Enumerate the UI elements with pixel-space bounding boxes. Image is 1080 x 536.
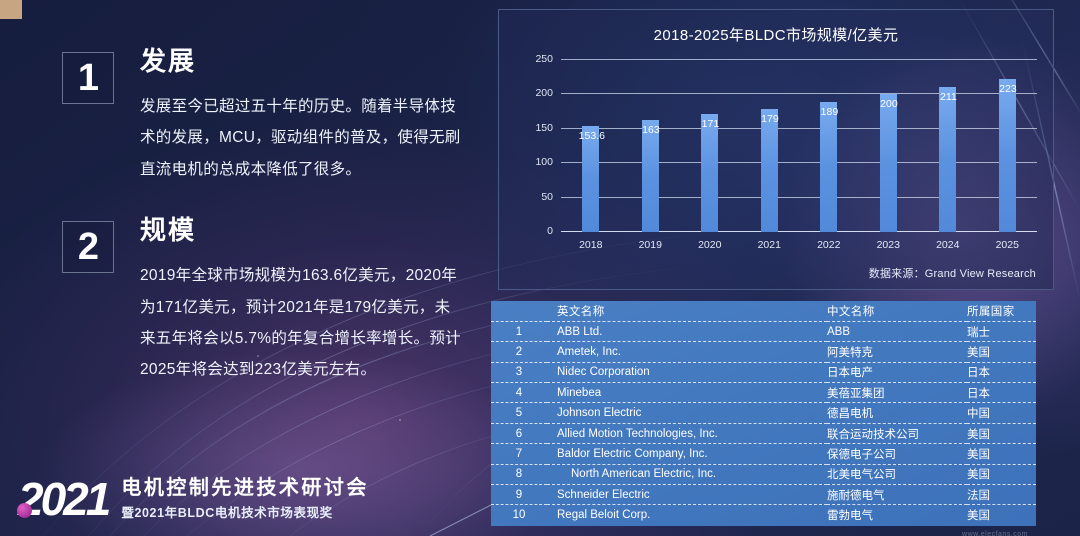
table-cell-english: North American Electric, Inc.: [547, 464, 827, 484]
table-cell-country: 美国: [967, 444, 1036, 464]
table-cell-chinese: 美蓓亚集团: [827, 383, 967, 403]
chart-bar-slot: 1792021: [740, 60, 800, 232]
logo-year-wrap: 2021: [18, 476, 114, 522]
chart-bar: [820, 102, 837, 232]
section-number: 1: [78, 59, 98, 97]
table-header-english: 英文名称: [547, 301, 827, 321]
chart-x-tick-label: 2019: [639, 239, 662, 251]
section-body: 规模 2019年全球市场规模为163.6亿美元，2020年为171亿美元，预计2…: [140, 215, 462, 385]
table-cell-english: Allied Motion Technologies, Inc.: [547, 423, 827, 443]
chart-bar: [761, 109, 778, 232]
chart-plot-area: 050100150200250 153.62018163201917120201…: [561, 60, 1037, 232]
table-cell-index: 2: [491, 342, 547, 362]
logo-text-block: 电机控制先进技术研讨会 暨2021年BLDC电机技术市场表现奖: [121, 477, 369, 521]
chart-y-tick-label: 200: [535, 87, 553, 99]
chart-source-note: 数据来源：Grand View Research: [869, 265, 1036, 281]
chart-bar-slot: 2002023: [859, 60, 919, 232]
table-cell-english: Minebea: [547, 383, 827, 403]
table-cell-index: 1: [491, 321, 547, 341]
chart-bar: [642, 120, 659, 232]
chart-x-tick-label: 2024: [936, 239, 959, 251]
table-row: 5Johnson Electric德昌电机中国: [491, 403, 1036, 423]
chart-title: 2018-2025年BLDC市场规模/亿美元: [499, 10, 1053, 45]
table-header-index: [491, 301, 547, 321]
logo-sub-title: 暨2021年BLDC电机技术市场表现奖: [121, 502, 369, 521]
chart-plot-wrapper: 050100150200250 153.62018163201917120201…: [499, 50, 1055, 260]
table-body: 1ABB Ltd.ABB瑞士2Ametek, Inc.阿美特克美国3Nidec …: [491, 321, 1036, 525]
table-cell-country: 美国: [967, 505, 1036, 525]
chart-bar-slot: 2232025: [978, 60, 1038, 232]
chart-bar-value-label: 163: [642, 124, 660, 136]
chart-bar-slot: 1632019: [621, 60, 681, 232]
table-cell-chinese: 施耐德电气: [827, 485, 967, 505]
table-cell-english: Ametek, Inc.: [547, 342, 827, 362]
chart-bar: [999, 79, 1016, 232]
section-number-badge: 2: [62, 221, 114, 273]
table-cell-country: 美国: [967, 342, 1036, 362]
chart-bar: [939, 87, 956, 232]
table-cell-chinese: 雷勃电气: [827, 505, 967, 525]
table-row: 2Ametek, Inc.阿美特克美国: [491, 342, 1036, 362]
chart-bar-value-label: 200: [880, 98, 898, 110]
table-head: 英文名称 中文名称 所属国家: [491, 301, 1036, 321]
table-row: 6Allied Motion Technologies, Inc.联合运动技术公…: [491, 423, 1036, 443]
section-paragraph: 发展至今已超过五十年的历史。随着半导体技术的发展，MCU，驱动组件的普及，使得无…: [140, 91, 462, 185]
table-cell-index: 9: [491, 485, 547, 505]
chart-y-tick-label: 0: [547, 225, 553, 237]
slide-root: 1 发展 发展至今已超过五十年的历史。随着半导体技术的发展，MCU，驱动组件的普…: [0, 0, 1080, 536]
section-development: 1 发展 发展至今已超过五十年的历史。随着半导体技术的发展，MCU，驱动组件的普…: [62, 46, 462, 185]
table-header-row: 英文名称 中文名称 所属国家: [491, 301, 1036, 321]
table-cell-chinese: 阿美特克: [827, 342, 967, 362]
chart-bar-value-label: 211: [940, 91, 957, 103]
section-scale: 2 规模 2019年全球市场规模为163.6亿美元，2020年为171亿美元，预…: [62, 215, 462, 385]
section-number: 2: [78, 228, 98, 266]
table-cell-index: 4: [491, 383, 547, 403]
section-title: 发展: [140, 46, 462, 77]
table-cell-country: 瑞士: [967, 321, 1036, 341]
table-cell-english: Baldor Electric Company, Inc.: [547, 444, 827, 464]
chart-bar-value-label: 171: [702, 118, 720, 130]
table-cell-index: 3: [491, 362, 547, 382]
table-cell-country: 法国: [967, 485, 1036, 505]
chart-x-tick-label: 2021: [758, 239, 781, 251]
table-cell-chinese: 日本电产: [827, 362, 967, 382]
table-row: 3Nidec Corporation日本电产日本: [491, 362, 1036, 382]
chart-bar-value-label: 189: [821, 106, 839, 118]
chart-bars: 153.620181632019171202017920211892022200…: [561, 60, 1037, 232]
table-cell-english: Regal Beloit Corp.: [547, 505, 827, 525]
section-paragraph: 2019年全球市场规模为163.6亿美元，2020年为171亿美元，预计2021…: [140, 260, 462, 385]
table-header-country: 所属国家: [967, 301, 1036, 321]
chart-x-tick-label: 2020: [698, 239, 721, 251]
logo-year-text: 2021: [18, 473, 108, 525]
chart-bar-slot: 1712020: [680, 60, 740, 232]
chart-bar-value-label: 223: [999, 83, 1017, 95]
table-cell-chinese: 德昌电机: [827, 403, 967, 423]
chart-panel: 2018-2025年BLDC市场规模/亿美元 050100150200250 1…: [498, 9, 1054, 290]
corner-artifact: [0, 0, 22, 19]
table-cell-chinese: 保德电子公司: [827, 444, 967, 464]
table-row: 10Regal Beloit Corp.雷勃电气美国: [491, 505, 1036, 525]
content-column: 1 发展 发展至今已超过五十年的历史。随着半导体技术的发展，MCU，驱动组件的普…: [62, 46, 462, 385]
chart-bar: [701, 114, 718, 232]
table-cell-index: 6: [491, 423, 547, 443]
table-row: 1ABB Ltd.ABB瑞士: [491, 321, 1036, 341]
table-cell-country: 中国: [967, 403, 1036, 423]
chart-y-tick-label: 150: [535, 122, 553, 134]
table-cell-index: 8: [491, 464, 547, 484]
chart-y-tick-label: 50: [541, 191, 553, 203]
table-cell-country: 日本: [967, 383, 1036, 403]
table-row: 9Schneider Electric施耐德电气法国: [491, 485, 1036, 505]
company-table: 英文名称 中文名称 所属国家 1ABB Ltd.ABB瑞士2Ametek, In…: [491, 301, 1036, 525]
table-header-chinese: 中文名称: [827, 301, 967, 321]
table-cell-country: 美国: [967, 464, 1036, 484]
watermark: www.elecfans.com: [962, 531, 1028, 536]
table-cell-english: Schneider Electric: [547, 485, 827, 505]
chart-bar-value-label: 179: [761, 113, 779, 125]
logo-main-title: 电机控制先进技术研讨会: [121, 477, 369, 499]
chart-x-tick-label: 2023: [877, 239, 900, 251]
table-cell-chinese: 北美电气公司: [827, 464, 967, 484]
section-title: 规模: [140, 215, 462, 246]
chart-bar: [880, 94, 897, 232]
section-body: 发展 发展至今已超过五十年的历史。随着半导体技术的发展，MCU，驱动组件的普及，…: [140, 46, 462, 185]
table-cell-index: 7: [491, 444, 547, 464]
table-row: 8North American Electric, Inc.北美电气公司美国: [491, 464, 1036, 484]
company-table-panel: 英文名称 中文名称 所属国家 1ABB Ltd.ABB瑞士2Ametek, In…: [491, 301, 1036, 526]
table-row: 4Minebea美蓓亚集团日本: [491, 383, 1036, 403]
table-cell-index: 10: [491, 505, 547, 525]
section-number-badge: 1: [62, 52, 114, 104]
table-cell-chinese: ABB: [827, 321, 967, 341]
table-cell-english: ABB Ltd.: [547, 321, 827, 341]
chart-bar-value-label: 153.6: [579, 130, 605, 142]
chart-y-tick-label: 250: [535, 53, 553, 65]
table-cell-country: 美国: [967, 423, 1036, 443]
chart-bar-slot: 2112024: [918, 60, 978, 232]
chart-bar-slot: 1892022: [799, 60, 859, 232]
table-cell-english: Johnson Electric: [547, 403, 827, 423]
event-logo: 2021 电机控制先进技术研讨会 暨2021年BLDC电机技术市场表现奖: [18, 468, 369, 530]
chart-y-tick-label: 100: [535, 156, 553, 168]
logo-dot-icon: [17, 503, 32, 518]
chart-x-tick-label: 2025: [996, 239, 1019, 251]
chart-x-tick-label: 2018: [579, 239, 602, 251]
table-cell-country: 日本: [967, 362, 1036, 382]
table-cell-index: 5: [491, 403, 547, 423]
chart-x-tick-label: 2022: [817, 239, 840, 251]
table-cell-english: Nidec Corporation: [547, 362, 827, 382]
table-cell-chinese: 联合运动技术公司: [827, 423, 967, 443]
table-row: 7Baldor Electric Company, Inc.保德电子公司美国: [491, 444, 1036, 464]
chart-bar-slot: 153.62018: [561, 60, 621, 232]
